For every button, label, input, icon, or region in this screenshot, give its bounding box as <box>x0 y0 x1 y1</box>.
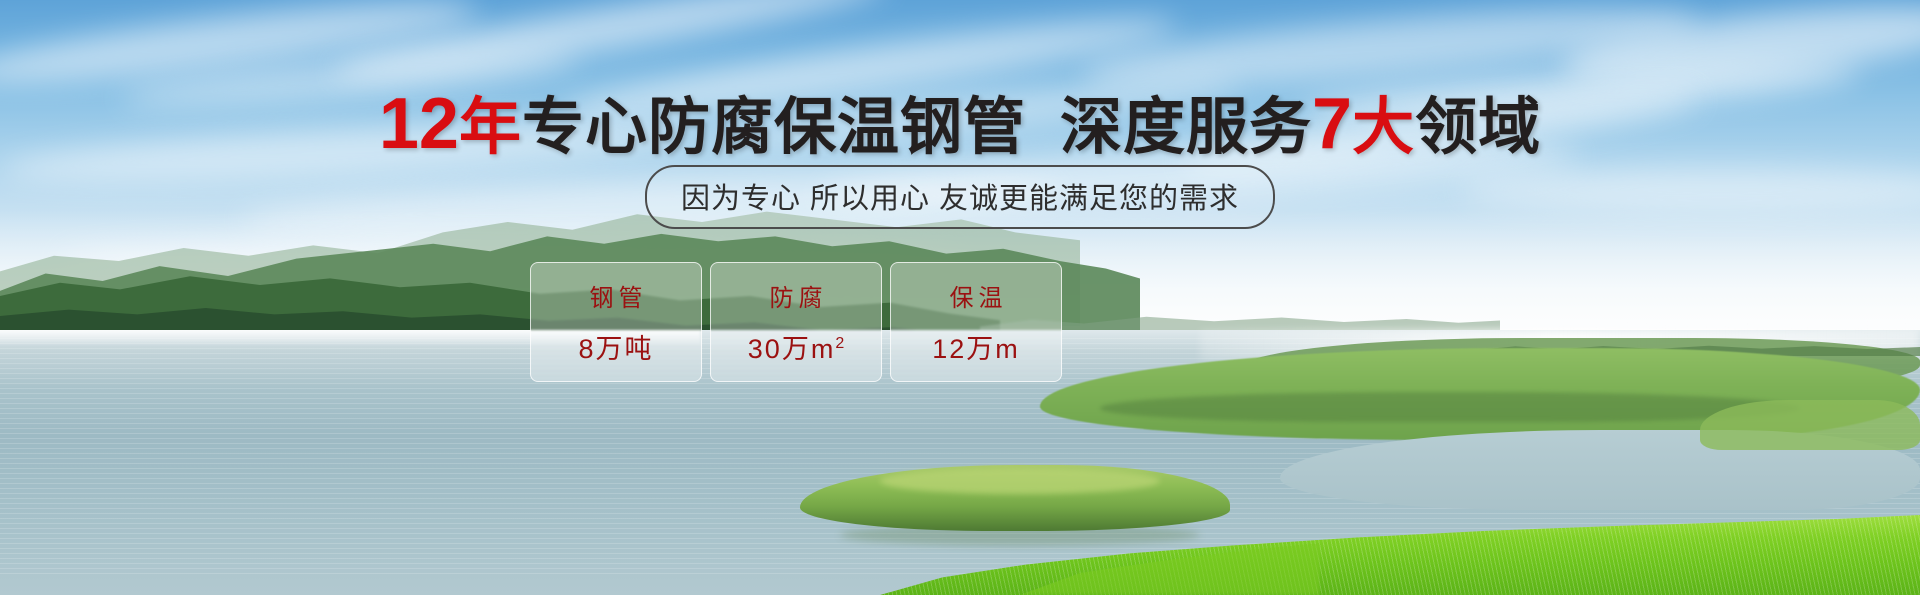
stat-card-value: 30万m2 <box>748 327 844 366</box>
headline-tail-text: 领域 <box>1415 93 1541 162</box>
stat-card-value: 8万吨 <box>578 327 653 366</box>
headline-fields-number: 7 <box>1312 84 1352 164</box>
stat-card-label: 防腐 <box>765 278 828 313</box>
stat-card-label: 钢管 <box>585 278 648 313</box>
headline-fields-suffix: 大 <box>1352 93 1415 162</box>
banner-subtitle-wrapper: 因为专心 所以用心 友诚更能满足您的需求 <box>0 165 1920 229</box>
banner-subtitle: 因为专心 所以用心 友诚更能满足您的需求 <box>645 165 1275 229</box>
stat-card-insulation: 保温 12万m <box>890 262 1062 382</box>
island-highlight <box>880 468 1160 494</box>
stat-value-superscript: 2 <box>835 335 844 352</box>
stat-card-steel-pipe: 钢管 8万吨 <box>530 262 702 382</box>
wetland-shadow <box>1100 392 1800 422</box>
headline-main-text: 专心防腐保温钢管 <box>522 93 1026 162</box>
stat-value-text: 30万m <box>748 334 836 364</box>
stat-card-anticorrosion: 防腐 30万m2 <box>710 262 882 382</box>
stat-value-text: 8万吨 <box>578 334 653 364</box>
stat-value-text: 12万m <box>932 334 1020 364</box>
promo-banner: 12年专心防腐保温钢管深度服务7大领域 因为专心 所以用心 友诚更能满足您的需求… <box>0 0 1920 595</box>
headline-years-number: 12 <box>379 84 459 164</box>
stat-card-value: 12万m <box>932 327 1020 366</box>
stat-card-group: 钢管 8万吨 防腐 30万m2 保温 12万m <box>530 262 1062 382</box>
reed-patch <box>1700 400 1920 450</box>
stat-card-label: 保温 <box>945 278 1008 313</box>
banner-headline: 12年专心防腐保温钢管深度服务7大领域 <box>0 88 1920 160</box>
headline-second-text: 深度服务 <box>1060 93 1312 162</box>
headline-years-suffix: 年 <box>459 93 522 162</box>
